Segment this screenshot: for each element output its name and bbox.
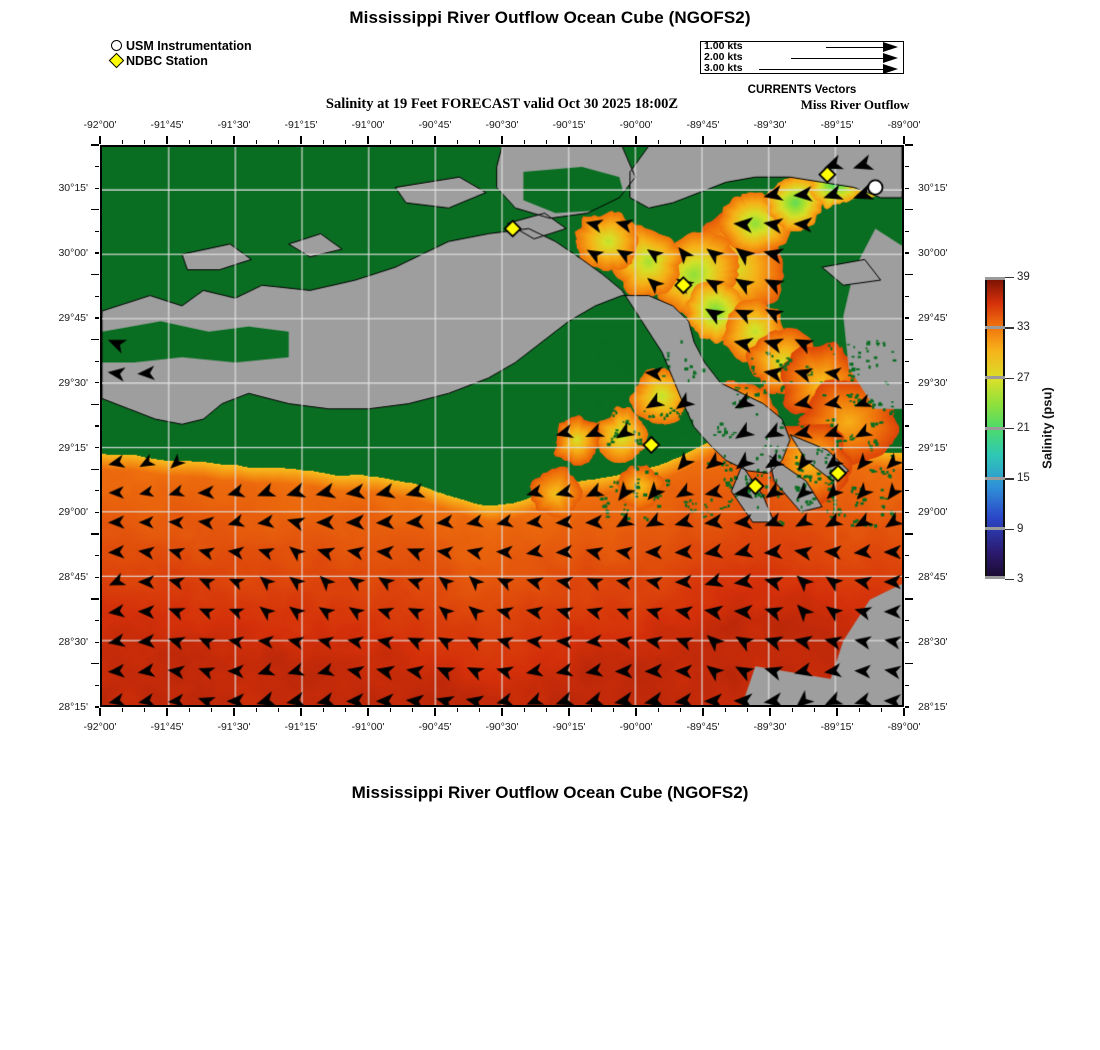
x-axis-tick-label: -90°15'	[552, 721, 585, 733]
y-axis-tick-label: 29°45'	[918, 312, 948, 324]
x-axis-tick-label: -90°00'	[619, 721, 652, 733]
colorbar-tick	[1005, 277, 1014, 278]
colorbar-tick	[1005, 478, 1014, 479]
arrowhead-icon	[883, 64, 898, 74]
axis-ruler-left	[91, 145, 99, 707]
axis-ruler-top	[100, 136, 904, 144]
y-axis-tick-label: 28°15'	[40, 701, 88, 713]
x-axis-tick-label: -89°30'	[753, 119, 786, 131]
x-axis-tick-label: -92°00'	[83, 119, 116, 131]
axis-ruler-bottom	[100, 708, 904, 716]
x-axis-tick-label: -91°45'	[150, 119, 183, 131]
y-axis-tick-label: 29°30'	[918, 377, 948, 389]
colorbar-tick-label: 33	[1017, 321, 1030, 333]
x-axis-tick-label: -91°30'	[217, 119, 250, 131]
vector-scale-row: 3.00 kts	[701, 64, 903, 75]
x-axis-tick-label: -90°45'	[418, 721, 451, 733]
colorbar-tick	[1005, 378, 1014, 379]
colorbar-tick	[1005, 529, 1014, 530]
y-axis-tick-label: 29°30'	[40, 377, 88, 389]
colorbar-tick	[1005, 428, 1014, 429]
colorbar-band-divider	[985, 427, 1005, 430]
y-axis-tick-label: 28°15'	[918, 701, 948, 713]
current-vector-scale-legend: 1.00 kts 2.00 kts 3.00 kts	[700, 41, 904, 74]
x-axis-tick-label: -90°30'	[485, 721, 518, 733]
x-axis-tick-label: -89°45'	[686, 721, 719, 733]
y-axis-tick-label: 29°15'	[918, 442, 948, 454]
x-axis-tick-label: -91°15'	[284, 721, 317, 733]
y-axis-tick-label: 29°15'	[40, 442, 88, 454]
colorbar-endcap	[985, 277, 1005, 280]
colorbar-band-divider	[985, 477, 1005, 480]
y-axis-tick-label: 28°30'	[918, 636, 948, 648]
vector-scale-label: 3.00 kts	[704, 63, 743, 74]
colorbar: 391521273339	[985, 277, 1005, 579]
arrowhead-icon	[883, 42, 898, 52]
y-axis-tick-label: 28°45'	[40, 571, 88, 583]
y-axis-tick-label: 28°45'	[918, 571, 948, 583]
arrowhead-icon	[883, 53, 898, 63]
x-axis-tick-label: -89°00'	[887, 119, 920, 131]
x-axis-tick-label: -90°30'	[485, 119, 518, 131]
footer-title: Mississippi River Outflow Ocean Cube (NG…	[0, 783, 1100, 803]
salinity-current-field	[102, 147, 902, 705]
y-axis-tick-label: 30°15'	[40, 182, 88, 194]
map-plot-area[interactable]	[100, 145, 904, 707]
colorbar-tick	[1005, 327, 1014, 328]
y-axis-tick-label: 29°45'	[40, 312, 88, 324]
x-axis-tick-label: -91°45'	[150, 721, 183, 733]
x-axis-tick-label: -89°15'	[820, 721, 853, 733]
colorbar-tick-label: 3	[1017, 573, 1023, 585]
x-axis-tick-label: -90°15'	[552, 119, 585, 131]
x-axis-tick-label: -89°30'	[753, 721, 786, 733]
y-axis-tick-label: 30°15'	[918, 182, 948, 194]
y-axis-tick-label: 30°00'	[918, 247, 948, 259]
colorbar-tick-label: 9	[1017, 523, 1023, 535]
colorbar-tick-label: 21	[1017, 422, 1030, 434]
x-axis-tick-label: -92°00'	[83, 721, 116, 733]
colorbar-band-divider	[985, 376, 1005, 379]
y-axis-tick-label: 28°30'	[40, 636, 88, 648]
colorbar-tick-label: 15	[1017, 472, 1030, 484]
x-axis-tick-label: -91°00'	[351, 119, 384, 131]
legend-item-ndbc: NDBC Station	[110, 53, 252, 68]
x-axis-tick-label: -89°15'	[820, 119, 853, 131]
colorbar-endcap	[985, 576, 1005, 579]
colorbar-tick-label: 39	[1017, 271, 1030, 283]
legend-label-usm: USM Instrumentation	[126, 39, 252, 53]
vector-shaft	[791, 58, 886, 59]
outflow-region-label: Miss River Outflow	[760, 97, 950, 113]
colorbar-band-divider	[985, 326, 1005, 329]
x-axis-tick-label: -91°30'	[217, 721, 250, 733]
y-axis-tick-label: 29°00'	[40, 506, 88, 518]
colorbar-tick-label: 27	[1017, 372, 1030, 384]
axis-ruler-right	[905, 145, 913, 707]
station-legend: USM Instrumentation NDBC Station	[110, 38, 252, 68]
x-axis-tick-label: -89°45'	[686, 119, 719, 131]
legend-label-ndbc: NDBC Station	[126, 54, 208, 68]
x-axis-tick-label: -91°15'	[284, 119, 317, 131]
y-axis-tick-label: 29°00'	[918, 506, 948, 518]
vector-shaft	[759, 69, 886, 70]
x-axis-tick-label: -90°00'	[619, 119, 652, 131]
circle-marker-icon	[110, 40, 123, 51]
diamond-marker-icon	[110, 55, 123, 66]
y-axis-tick-label: 30°00'	[40, 247, 88, 259]
x-axis-tick-label: -89°00'	[887, 721, 920, 733]
colorbar-tick	[1005, 579, 1014, 580]
currents-caption: CURRENTS Vectors	[700, 84, 904, 96]
colorbar-title: Salinity (psu)	[1040, 387, 1055, 469]
vector-shaft	[826, 47, 886, 48]
x-axis-tick-label: -90°45'	[418, 119, 451, 131]
x-axis-tick-label: -91°00'	[351, 721, 384, 733]
page-title: Mississippi River Outflow Ocean Cube (NG…	[0, 8, 1100, 28]
legend-item-usm: USM Instrumentation	[110, 38, 252, 53]
colorbar-band-divider	[985, 527, 1005, 530]
